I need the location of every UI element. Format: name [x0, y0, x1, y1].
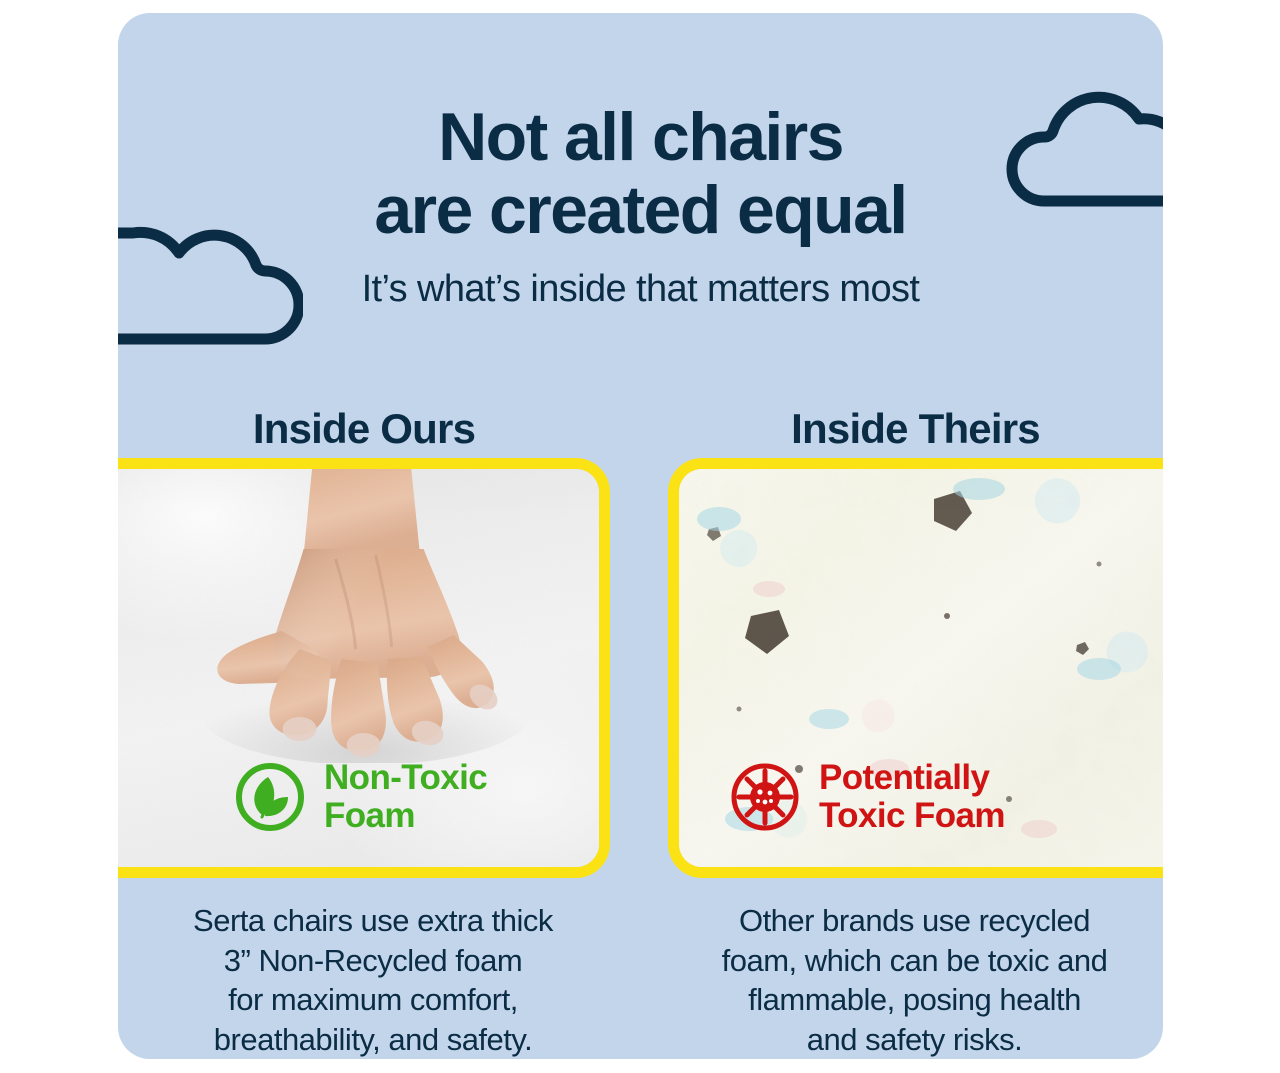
hand-illustration	[195, 463, 535, 763]
photo-panel-ours: Non-Toxic Foam	[118, 458, 610, 878]
caption-theirs: Other brands use recycled foam, which ca…	[666, 901, 1163, 1059]
headline-line-2: are created equal	[118, 174, 1163, 247]
column-title-ours: Inside Ours	[118, 405, 610, 453]
infographic-card: Not all chairs are created equal It’s wh…	[118, 13, 1163, 1059]
foam-photo-ours: Non-Toxic Foam	[118, 469, 599, 867]
caption-ours: Serta chairs use extra thick 3” Non-Recy…	[128, 901, 618, 1059]
germ-icon	[727, 759, 803, 835]
leaf-icon	[232, 759, 308, 835]
headline-line-1: Not all chairs	[438, 99, 843, 175]
badge-label-potentially-toxic: Potentially Toxic Foam	[819, 759, 1005, 835]
column-title-theirs: Inside Theirs	[668, 405, 1163, 453]
badge-label-non-toxic: Non-Toxic Foam	[324, 759, 487, 835]
photo-panel-theirs: Potentially Toxic Foam	[668, 458, 1163, 878]
page-headline: Not all chairs are created equal	[118, 101, 1163, 248]
foam-photo-theirs: Potentially Toxic Foam	[679, 469, 1163, 867]
badge-potentially-toxic: Potentially Toxic Foam	[727, 759, 1005, 835]
page-subheadline: It’s what’s inside that matters most	[118, 268, 1163, 311]
badge-non-toxic: Non-Toxic Foam	[232, 759, 487, 835]
